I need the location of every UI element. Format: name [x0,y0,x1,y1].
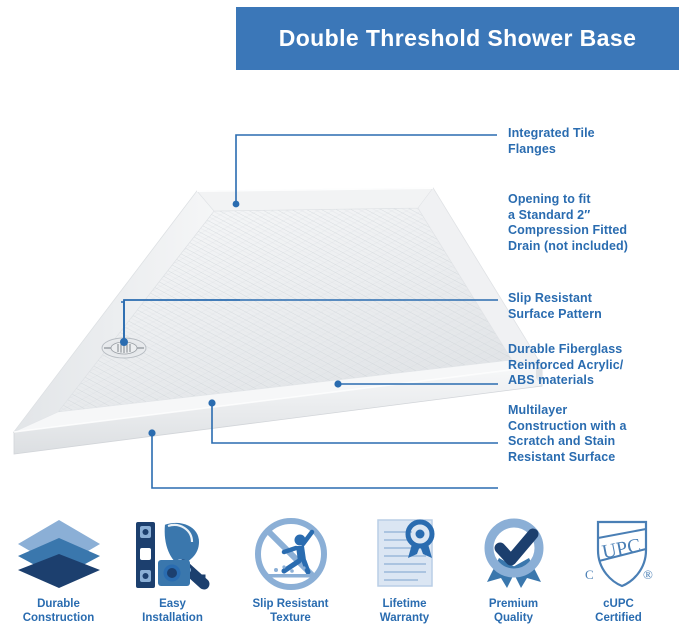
check-rosette-icon [471,512,557,590]
upc-shield-icon: UPC C ® [576,512,662,590]
upc-shield-text: UPC [600,535,642,564]
feature-lifetime-warranty: Lifetime Warranty [348,512,461,641]
dot-drain-opening [120,338,128,346]
callout-durable-materials: Durable Fiberglass Reinforced Acrylic/ A… [508,342,623,389]
dot-multilayer [148,429,155,436]
dot-integrated-tile-flanges [233,201,240,208]
upc-shield-right: ® [643,567,653,582]
dot-durable-materials [208,399,215,406]
callout-slip-resistant-surface: Slip Resistant Surface Pattern [508,291,602,322]
certificate-icon [362,512,448,590]
dot-slip-resistant [334,380,341,387]
callout-multilayer-construction: Multilayer Construction with a Scratch a… [508,403,627,465]
header-banner: Double Threshold Shower Base [236,7,679,70]
feature-durable-construction: Durable Construction [2,512,115,641]
product-illustration: Integrated Tile Flanges Opening to fit a… [0,78,679,508]
feature-label: Durable Construction [23,597,95,625]
callout-integrated-tile-flanges: Integrated Tile Flanges [508,126,595,157]
page-title: Double Threshold Shower Base [279,25,637,52]
feature-label: Lifetime Warranty [380,597,429,625]
callout-drain-opening: Opening to fit a Standard 2″ Compression… [508,192,628,254]
feature-label: Easy Installation [142,597,203,625]
feature-label: Premium Quality [489,597,538,625]
feature-strip: Durable Construction [0,512,679,641]
feature-label: cUPC Certified [595,597,642,625]
feature-premium-quality: Premium Quality [457,512,570,641]
level-trowel-icon [130,512,216,590]
stacked-layers-icon [16,512,102,590]
feature-cupc-certified: UPC C ® cUPC Certified [562,512,675,641]
upc-shield-left: C [585,567,594,582]
leader-multilayer [152,433,498,488]
feature-slip-resistant-texture: Slip Resistant Texture [234,512,347,641]
feature-label: Slip Resistant Texture [252,597,328,625]
feature-easy-installation: Easy Installation [116,512,229,641]
no-slip-icon [248,512,334,590]
